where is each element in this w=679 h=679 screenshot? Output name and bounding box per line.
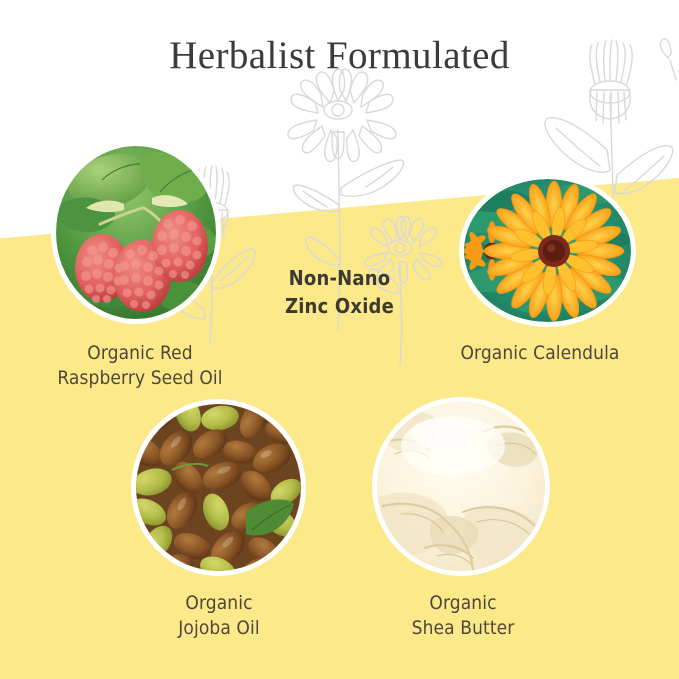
infographic-canvas: Herbalist Formulated (0, 0, 679, 679)
ingredient-image-raspberry (56, 146, 216, 319)
ingredient-image-shea (377, 402, 545, 571)
highlight-label-zinc-oxide: Non-Nano Zinc Oxide (252, 264, 427, 320)
ingredient-image-jojoba (136, 404, 301, 571)
page-title: Herbalist Formulated (0, 33, 679, 78)
ingredient-label-raspberry: Organic Red Raspberry Seed Oil (0, 341, 280, 391)
ingredient-image-calendula (464, 179, 631, 322)
ingredient-label-shea: Organic Shea Butter (352, 591, 574, 641)
ingredient-label-jojoba: Organic Jojoba Oil (108, 591, 330, 641)
ingredient-label-calendula: Organic Calendula (400, 341, 679, 366)
